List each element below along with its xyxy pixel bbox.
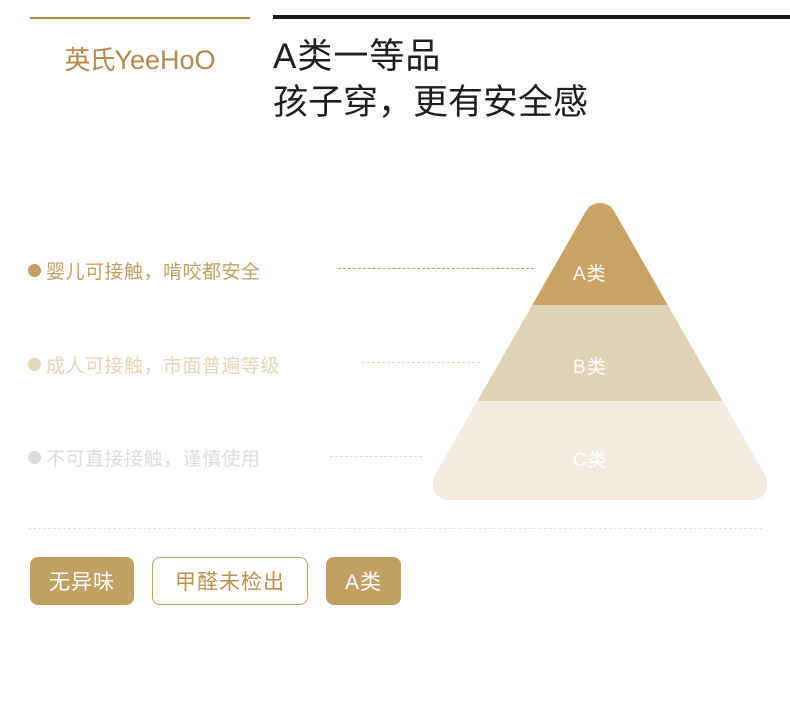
grade-bullet-c-label: 不可直接接触，谨慎使用 (46, 444, 261, 471)
pyramid-shape (425, 195, 775, 510)
grade-pyramid: A类 B类 C类 (425, 195, 775, 510)
badge-formaldehyde-not-detected: 甲醛未检出 (152, 557, 308, 605)
gold-divider-rule (30, 17, 250, 19)
grade-bullet-b-label: 成人可接触，市面普遍等级 (46, 351, 280, 378)
grade-bullet-b: 成人可接触，市面普遍等级 (28, 347, 280, 381)
badge-no-odor: 无异味 (30, 557, 134, 605)
brand-logo: 英氏YeeHoO (30, 40, 250, 77)
grade-bullet-c: 不可直接接触，谨慎使用 (28, 440, 261, 474)
pyramid-tier-b (425, 305, 775, 401)
badge-class-a: A类 (326, 557, 401, 605)
headline-line-2: 孩子穿，更有安全感 (273, 80, 588, 126)
black-divider-rule (273, 15, 790, 19)
page-title: A类一等品 孩子穿，更有安全感 (273, 34, 588, 126)
bullet-dot-icon (28, 264, 41, 277)
bullet-dot-icon (28, 358, 41, 371)
connector-line-c (330, 456, 422, 457)
pyramid-tier-c (425, 401, 775, 510)
grade-bullet-a-label: 婴儿可接触，啃咬都安全 (46, 257, 261, 284)
page-header: 英氏YeeHoO A类一等品 孩子穿，更有安全感 (0, 0, 790, 160)
brand-logo-en: YeeHoO (114, 45, 215, 75)
headline-line-1: A类一等品 (273, 34, 588, 80)
bullet-dot-icon (28, 451, 41, 464)
brand-logo-cn: 英氏 (64, 45, 114, 75)
certification-badges: 无异味 甲醛未检出 A类 (30, 557, 401, 605)
section-divider (28, 528, 762, 529)
pyramid-tier-a (425, 195, 775, 305)
grade-bullet-a: 婴儿可接触，啃咬都安全 (28, 253, 261, 287)
